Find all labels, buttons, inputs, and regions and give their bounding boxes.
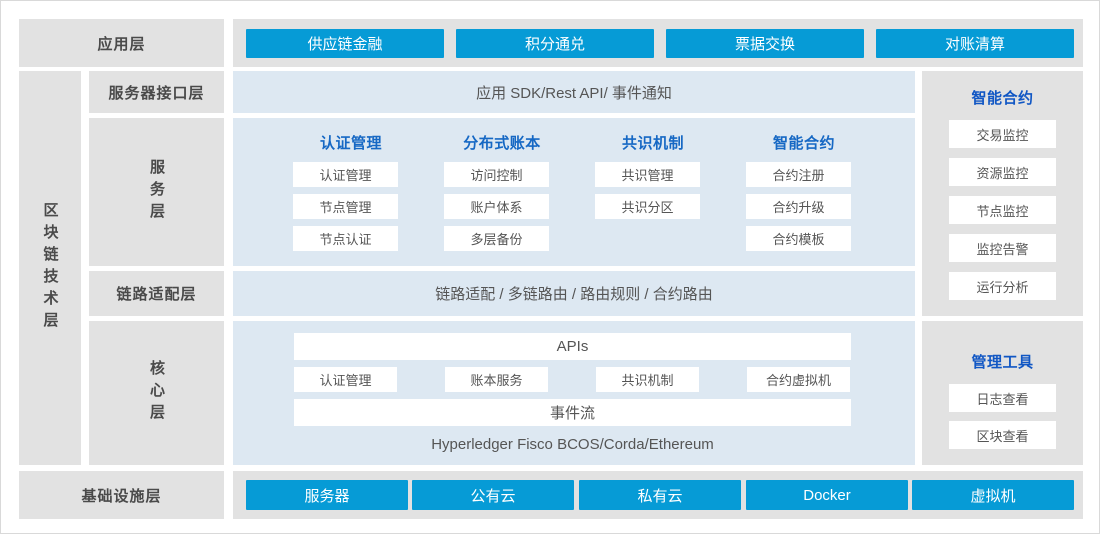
- service-chip-4-2[interactable]: 合约升级: [746, 194, 851, 219]
- infra-button-1-label: 服务器: [304, 485, 349, 506]
- service-col-4-head: 智能合约: [744, 131, 864, 153]
- service-chip-1-3[interactable]: 节点认证: [293, 226, 398, 251]
- right-panel-contract-item-5[interactable]: 运行分析: [949, 272, 1056, 300]
- right-panel-contract-item-1[interactable]: 交易监控: [949, 120, 1056, 148]
- service-col-1-head: 认证管理: [291, 131, 411, 153]
- infra-button-3-label: 私有云: [637, 485, 682, 506]
- infra-button-4-label: Docker: [803, 487, 851, 504]
- service-chip-3-1[interactable]: 共识管理: [595, 162, 700, 187]
- service-chip-2-1[interactable]: 访问控制: [444, 162, 549, 187]
- right-panel-contract-item-4[interactable]: 监控告警: [949, 234, 1056, 262]
- core-module-3[interactable]: 共识机制: [596, 367, 699, 392]
- core-platforms-text-box: Hyperledger Fisco BCOS/Corda/Ethereum: [294, 433, 851, 455]
- service-col-3-head: 共识机制: [593, 131, 713, 153]
- right-panel-contract-head: 智能合约: [971, 87, 1033, 108]
- infra-button-3[interactable]: 私有云: [579, 480, 741, 510]
- link-adapter-text: 链路适配 / 多链路由 / 路由规则 / 合约路由: [435, 283, 713, 304]
- right-panel-tools-item-2[interactable]: 区块查看: [949, 421, 1056, 449]
- app-button-4[interactable]: 对账清算: [876, 29, 1074, 58]
- service-chip-1-2[interactable]: 节点管理: [293, 194, 398, 219]
- application-layer-label-box: 应用层: [19, 19, 224, 67]
- right-panel-tools-head: 管理工具: [971, 351, 1033, 372]
- link-adapter-label-box: 链路适配层: [89, 271, 224, 316]
- service-chip-2-3[interactable]: 多层备份: [444, 226, 549, 251]
- infra-button-4[interactable]: Docker: [746, 480, 908, 510]
- infra-button-5[interactable]: 虚拟机: [912, 480, 1074, 510]
- app-button-2-label: 积分通兑: [525, 33, 585, 54]
- service-col-2-head: 分布式账本: [442, 131, 562, 153]
- core-layer-label: 核心层: [149, 360, 164, 426]
- tech-layer-label-box: 区块链技术层: [19, 71, 81, 465]
- core-apis-label: APIs: [557, 338, 589, 355]
- application-layer-label: 应用层: [97, 33, 145, 54]
- service-layer-label: 服务层: [149, 159, 164, 225]
- service-layer-label-box: 服务层: [89, 118, 224, 266]
- right-panel-contract-head-box: 智能合约: [922, 85, 1083, 109]
- core-platforms-text: Hyperledger Fisco BCOS/Corda/Ethereum: [431, 436, 714, 453]
- infra-button-2-label: 公有云: [470, 485, 515, 506]
- core-module-2[interactable]: 账本服务: [445, 367, 548, 392]
- core-module-4[interactable]: 合约虚拟机: [747, 367, 850, 392]
- right-panel-contract-item-2[interactable]: 资源监控: [949, 158, 1056, 186]
- tech-layer-label: 区块链技术层: [43, 202, 58, 334]
- app-button-3[interactable]: 票据交换: [666, 29, 864, 58]
- right-panel-tools-head-box: 管理工具: [922, 349, 1083, 373]
- right-panel-tools-item-1[interactable]: 日志查看: [949, 384, 1056, 412]
- right-panel-contract-item-3[interactable]: 节点监控: [949, 196, 1056, 224]
- app-button-1[interactable]: 供应链金融: [246, 29, 444, 58]
- core-event-stream-label: 事件流: [550, 402, 595, 423]
- server-interface-label: 服务器接口层: [108, 82, 204, 103]
- service-chip-1-1[interactable]: 认证管理: [293, 162, 398, 187]
- core-module-1[interactable]: 认证管理: [294, 367, 397, 392]
- service-chip-4-3[interactable]: 合约模板: [746, 226, 851, 251]
- app-button-2[interactable]: 积分通兑: [456, 29, 654, 58]
- app-button-3-label: 票据交换: [735, 33, 795, 54]
- service-chip-2-2[interactable]: 账户体系: [444, 194, 549, 219]
- core-apis-box[interactable]: APIs: [294, 333, 851, 360]
- infrastructure-layer-label: 基础设施层: [81, 485, 161, 506]
- infra-button-1[interactable]: 服务器: [246, 480, 408, 510]
- link-adapter-panel: 链路适配 / 多链路由 / 路由规则 / 合约路由: [233, 271, 915, 316]
- infra-button-5-label: 虚拟机: [970, 485, 1015, 506]
- infra-button-2[interactable]: 公有云: [412, 480, 574, 510]
- infrastructure-layer-label-box: 基础设施层: [19, 471, 224, 519]
- server-interface-text: 应用 SDK/Rest API/ 事件通知: [476, 82, 672, 103]
- app-button-1-label: 供应链金融: [307, 33, 382, 54]
- server-interface-label-box: 服务器接口层: [89, 71, 224, 113]
- server-interface-panel: 应用 SDK/Rest API/ 事件通知: [233, 71, 915, 113]
- core-event-stream-box[interactable]: 事件流: [294, 399, 851, 426]
- core-layer-label-box: 核心层: [89, 321, 224, 465]
- service-chip-3-2[interactable]: 共识分区: [595, 194, 700, 219]
- app-button-4-label: 对账清算: [945, 33, 1005, 54]
- service-chip-4-1[interactable]: 合约注册: [746, 162, 851, 187]
- link-adapter-label: 链路适配层: [116, 283, 196, 304]
- architecture-diagram: 应用层 供应链金融 积分通兑 票据交换 对账清算 区块链技术层 服务器接口层 服…: [0, 0, 1100, 534]
